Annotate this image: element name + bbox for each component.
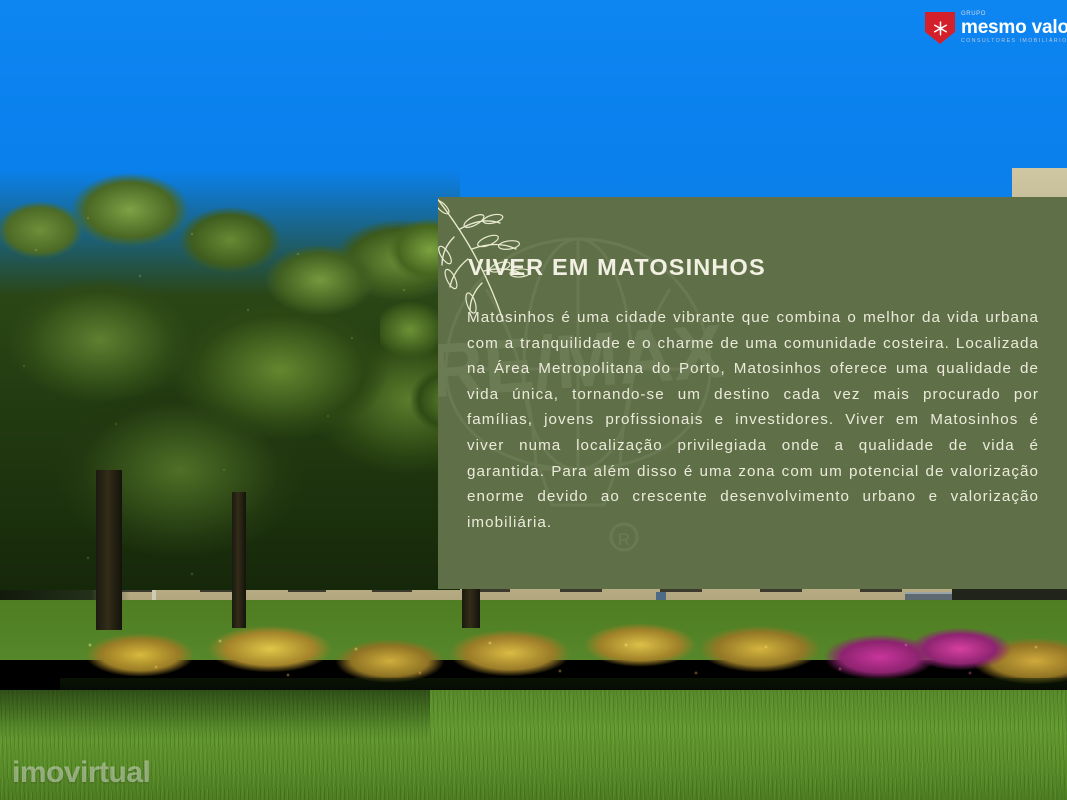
mesmo-valor-logo[interactable]: GRUPO mesmo valor CONSULTORES IMOBILIÁRI… — [925, 8, 1061, 48]
logo-tagline: CONSULTORES IMOBILIÁRIOS — [961, 39, 1067, 44]
shield-icon — [925, 12, 955, 44]
listing-photo-stage: RE/MAX R — [0, 0, 1067, 800]
panel-title: VIVER EM MATOSINHOS — [468, 254, 766, 281]
imovirtual-watermark: imovirtual — [12, 756, 150, 790]
lawn-foreground-shadow — [0, 690, 430, 740]
logo-text-block: GRUPO mesmo valor CONSULTORES IMOBILIÁRI… — [961, 11, 1067, 44]
logo-main-text: mesmo valor — [961, 18, 1067, 37]
panel-body-text: Matosinhos é uma cidade vibrante que com… — [467, 305, 1039, 561]
logo-word-valor: valor — [1032, 17, 1067, 38]
tree-trunk — [232, 492, 246, 628]
viver-em-matosinhos-panel: RE/MAX R — [438, 197, 1067, 589]
logo-word-mesmo: mesmo — [961, 17, 1027, 38]
tree-trunk — [96, 470, 122, 630]
panel-body-paragraph: Matosinhos é uma cidade vibrante que com… — [467, 305, 1039, 561]
snowflake-star-icon — [932, 20, 949, 37]
